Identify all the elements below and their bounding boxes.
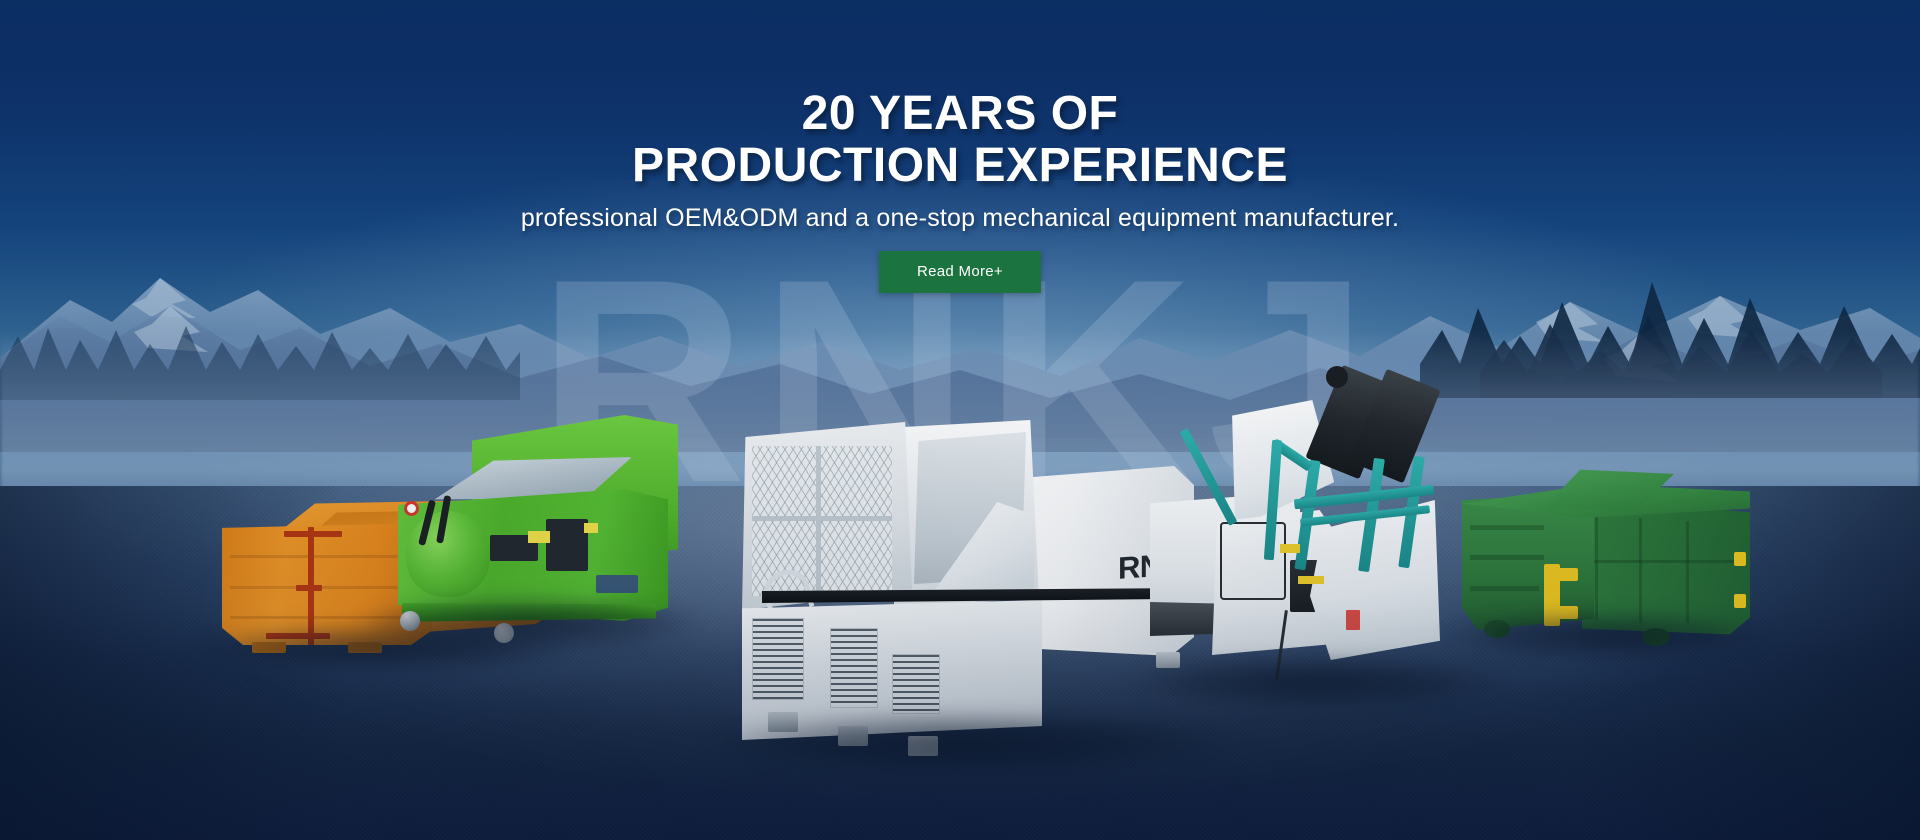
white-vent-panel-mid (830, 628, 878, 708)
shadow-green1 (356, 596, 696, 650)
green-blue-tray (596, 575, 638, 593)
shadow-white1 (714, 712, 1214, 774)
lifter-bin-wheel (1326, 366, 1348, 388)
orange-door-latch-mid (296, 585, 322, 591)
green-warning-label-1 (528, 531, 550, 543)
green-no-entry-sticker (404, 501, 419, 516)
hero-copy-block: 20 YEARS OF PRODUCTION EXPERIENCE profes… (0, 0, 1920, 293)
green-warning-label-2 (584, 523, 598, 533)
hero-subtitle: professional OEM&ODM and a one-stop mech… (0, 204, 1920, 233)
headline-line-2: PRODUCTION EXPERIENCE (0, 140, 1920, 192)
white-vent-panel-right (892, 654, 940, 714)
shadow-white2 (1130, 656, 1500, 708)
white-mesh-frame-horizontal (752, 516, 892, 521)
white-vent-panel-left (752, 618, 804, 700)
green-control-box (546, 519, 588, 571)
green2-yellow-side-tab (1734, 552, 1746, 566)
headline-line-1: 20 YEARS OF (802, 87, 1119, 140)
green-hopper-drum (406, 511, 490, 597)
read-more-button[interactable]: Read More+ (879, 251, 1041, 293)
lifter-red-warning-sticker (1346, 610, 1360, 630)
lifter-yellow-label (1280, 544, 1300, 553)
shadow-green2 (1446, 612, 1766, 658)
hero-banner: RNKJ (0, 0, 1920, 840)
cta-container: Read More+ (0, 251, 1920, 293)
lifter-yellow-label-2 (1298, 576, 1324, 584)
page-title: 20 YEARS OF PRODUCTION EXPERIENCE (0, 88, 1920, 192)
green2-yellow-side-tab-2 (1734, 594, 1746, 608)
orange-door-latch-top (284, 531, 342, 537)
green2-yellow-hook-upper (1554, 568, 1578, 581)
white-mesh-frame-vertical (816, 446, 821, 596)
lifter-access-door (1220, 522, 1286, 600)
